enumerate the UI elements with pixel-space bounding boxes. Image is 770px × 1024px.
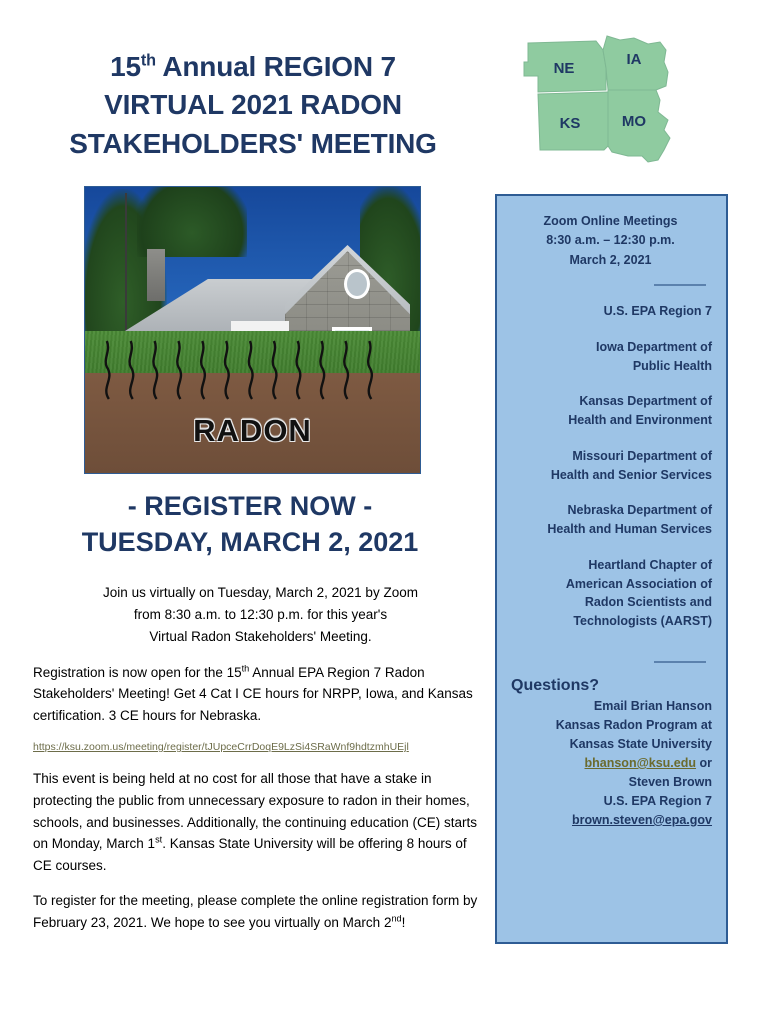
title-ordinal-suffix: th bbox=[141, 52, 156, 70]
org-line: Public Health bbox=[509, 357, 712, 376]
contact-block: Email Brian Hanson Kansas Radon Program … bbox=[509, 697, 712, 830]
sidebar-header-line-1: Zoom Online Meetings bbox=[509, 212, 712, 231]
intro-line-3: Virtual Radon Stakeholders' Meeting. bbox=[33, 626, 488, 648]
sidebar-org-epa: U.S. EPA Region 7 bbox=[509, 302, 712, 321]
register-line-2: TUESDAY, MARCH 2, 2021 bbox=[10, 524, 490, 560]
map-svg: NE IA KS MO bbox=[508, 28, 723, 178]
title-line-1: 15th Annual REGION 7 bbox=[18, 48, 488, 86]
org-line: Missouri Department of bbox=[509, 447, 712, 466]
org-line: U.S. EPA Region 7 bbox=[509, 302, 712, 321]
deadline-paragraph: To register for the meeting, please comp… bbox=[33, 890, 488, 934]
map-label-mo: MO bbox=[622, 113, 646, 130]
contact-line-1: Email Brian Hanson bbox=[509, 697, 712, 716]
contact-email-1-row: bhanson@ksu.edu or bbox=[509, 754, 712, 773]
info-sidebar: Zoom Online Meetings 8:30 a.m. – 12:30 p… bbox=[495, 194, 728, 944]
registration-paragraph: Registration is now open for the 15th An… bbox=[33, 662, 488, 728]
contact-email-2-row: brown.steven@epa.gov bbox=[509, 811, 712, 830]
deadline-post: ! bbox=[402, 915, 406, 930]
map-label-ne: NE bbox=[554, 60, 575, 77]
sidebar-header-line-2: 8:30 a.m. – 12:30 p.m. bbox=[509, 231, 712, 250]
chimney bbox=[147, 249, 165, 301]
org-line: Health and Human Services bbox=[509, 520, 712, 539]
title-line-1-post: Annual REGION 7 bbox=[156, 51, 396, 82]
radon-house-photo: RADON bbox=[84, 186, 421, 474]
contact-line-3: Kansas State University bbox=[509, 735, 712, 754]
radon-gas-arrows-icon bbox=[85, 337, 420, 401]
register-line-1: - REGISTER NOW - bbox=[10, 488, 490, 524]
org-line: Iowa Department of bbox=[509, 338, 712, 357]
title-line-1-pre: 15 bbox=[110, 51, 141, 82]
sidebar-org-aarst: Heartland Chapter of American Associatio… bbox=[509, 556, 712, 631]
sidebar-org-nebraska: Nebraska Department of Health and Human … bbox=[509, 501, 712, 539]
email-link-brown-steven[interactable]: brown.steven@epa.gov bbox=[572, 813, 712, 827]
sidebar-header: Zoom Online Meetings 8:30 a.m. – 12:30 p… bbox=[509, 212, 712, 270]
org-line: Nebraska Department of bbox=[509, 501, 712, 520]
registration-paragraph-pre: Registration is now open for the 15 bbox=[33, 665, 242, 680]
org-line: Kansas Department of bbox=[509, 392, 712, 411]
sidebar-divider-bottom bbox=[654, 661, 706, 663]
org-line: Health and Environment bbox=[509, 411, 712, 430]
region-7-map: NE IA KS MO bbox=[508, 28, 723, 178]
questions-heading: Questions? bbox=[511, 677, 712, 695]
title-line-3: STAKEHOLDERS' MEETING bbox=[18, 125, 488, 163]
org-line: American Association of bbox=[509, 575, 712, 594]
flyer-page: 15th Annual REGION 7 VIRTUAL 2021 RADON … bbox=[0, 0, 770, 1024]
email-link-bhanson[interactable]: bhanson@ksu.edu bbox=[585, 756, 697, 770]
registration-link[interactable]: https://ksu.zoom.us/meeting/register/tJU… bbox=[33, 740, 488, 755]
contact-line-5: U.S. EPA Region 7 bbox=[509, 792, 712, 811]
event-info-paragraph: This event is being held at no cost for … bbox=[33, 768, 488, 877]
org-line: Heartland Chapter of bbox=[509, 556, 712, 575]
deadline-ordinal-suffix: nd bbox=[391, 914, 401, 924]
org-line: Health and Senior Services bbox=[509, 466, 712, 485]
contact-line-4: Steven Brown bbox=[509, 773, 712, 792]
radon-caption: RADON bbox=[85, 413, 420, 449]
page-title: 15th Annual REGION 7 VIRTUAL 2021 RADON … bbox=[18, 48, 488, 163]
gable-oval-window bbox=[344, 269, 370, 299]
map-label-ks: KS bbox=[560, 115, 581, 132]
title-line-2: VIRTUAL 2021 RADON bbox=[18, 86, 488, 124]
sidebar-divider-top bbox=[654, 284, 706, 286]
body-content: Join us virtually on Tuesday, March 2, 2… bbox=[33, 582, 488, 947]
tree-middle bbox=[137, 186, 247, 257]
intro-paragraph: Join us virtually on Tuesday, March 2, 2… bbox=[33, 582, 488, 648]
org-line: Technologists (AARST) bbox=[509, 612, 712, 631]
sidebar-org-missouri: Missouri Department of Health and Senior… bbox=[509, 447, 712, 485]
deadline-pre: To register for the meeting, please comp… bbox=[33, 893, 477, 930]
email-1-suffix: or bbox=[696, 756, 712, 770]
map-label-ia: IA bbox=[627, 51, 642, 68]
intro-line-1: Join us virtually on Tuesday, March 2, 2… bbox=[33, 582, 488, 604]
contact-line-2: Kansas Radon Program at bbox=[509, 716, 712, 735]
sidebar-org-kansas: Kansas Department of Health and Environm… bbox=[509, 392, 712, 430]
intro-line-2: from 8:30 a.m. to 12:30 p.m. for this ye… bbox=[33, 604, 488, 626]
sidebar-header-line-3: March 2, 2021 bbox=[509, 251, 712, 270]
sidebar-org-iowa: Iowa Department of Public Health bbox=[509, 338, 712, 376]
org-line: Radon Scientists and bbox=[509, 593, 712, 612]
register-heading: - REGISTER NOW - TUESDAY, MARCH 2, 2021 bbox=[10, 488, 490, 561]
